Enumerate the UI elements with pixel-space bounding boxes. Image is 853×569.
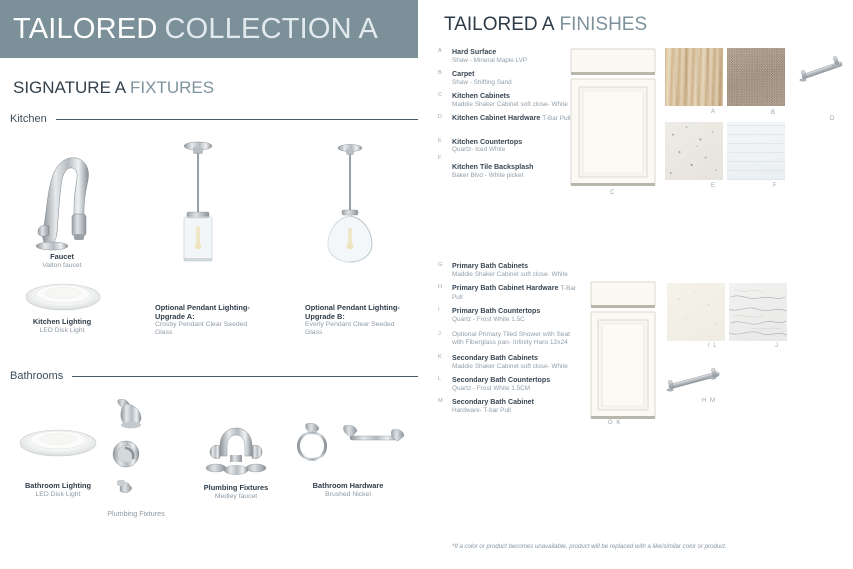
legend-item-i: I Primary Bath Countertops Quartz - Fros…: [438, 307, 578, 324]
kitchen-item-2-caption: Optional Pendant Lighting- Upgrade A: Cr…: [155, 304, 263, 338]
legend-desc-f: Baker Blvd - White picket: [452, 172, 578, 180]
signature-section-title: SIGNATURE AFIXTURES: [13, 78, 214, 98]
bath-item-0-desc: LED Disk Light: [8, 491, 108, 499]
spec-sheet-page: TAILOREDCOLLECTION A SIGNATURE AFIXTURES…: [0, 0, 853, 569]
kitchen-item-0-desc: Valton faucet: [10, 262, 114, 270]
legend-name-e: Kitchen Countertops: [452, 138, 578, 147]
swatch-label-e: E: [711, 183, 715, 189]
legend-item-e: E Kitchen Countertops Quartz- Iced White: [438, 138, 578, 155]
bath-item-1-name: Plumbing Fixtures: [90, 510, 182, 518]
legend-key-l: L: [438, 376, 441, 382]
legend-name-h-text: Primary Bath Cabinet Hardware: [452, 284, 558, 292]
swatch-gk-bath-cabinet-door: [590, 281, 656, 426]
kitchen-section-header: Kitchen: [10, 113, 418, 125]
legend-item-d: D Kitchen Cabinet Hardware T-Bar Pull: [438, 114, 578, 123]
finishes-title-light: FINISHES: [560, 14, 648, 35]
legend-name-m: Secondary Bath Cabinet: [452, 398, 578, 407]
finishes-title: TAILORED AFINISHES: [444, 14, 647, 36]
legend-desc-c: Maddie Shaker Cabinet soft close- White: [452, 101, 578, 109]
kitchen-item-3-name: Optional Pendant Lighting- Upgrade B:: [305, 304, 413, 321]
swatch-c-kitchen-cabinet-door: [570, 48, 656, 193]
legend-key-e: E: [438, 138, 442, 144]
legend-item-m: M Secondary Bath Cabinet Hardware- T-bar…: [438, 398, 578, 415]
legend-name-d-text: Kitchen Cabinet Hardware: [452, 114, 540, 122]
bathrooms-label: Bathrooms: [10, 370, 63, 382]
finishes-title-bold: TAILORED A: [444, 14, 555, 35]
bath-item-0-caption: Bathroom Lighting LED Disk Light: [8, 482, 108, 499]
bell-pendant-image: [320, 140, 380, 273]
legend-name-a: Hard Surface: [452, 48, 578, 57]
banner-title-bold: TAILORED: [13, 13, 157, 45]
bath-item-1-caption: Plumbing Fixtures: [90, 510, 182, 518]
swatch-d-tbar-pull: [795, 52, 847, 97]
swatch-label-gk: G K: [608, 420, 621, 426]
legend-item-l: L Secondary Bath Countertops Quartz - Fr…: [438, 376, 578, 393]
legend-desc-l: Quartz - Frost White 1.5CM: [452, 385, 578, 393]
faucet-image: [28, 140, 104, 257]
kitchen-item-3-desc: Everly Pendant Clear Seeded Glass: [305, 321, 413, 337]
swatch-label-j: J: [775, 343, 778, 349]
legend-desc-k: Maddie Shaker Cabinet soft close- White: [452, 363, 578, 371]
swatch-label-a: A: [711, 109, 715, 115]
disk-light-image-kitchen: [24, 278, 102, 317]
signature-title-bold: SIGNATURE A: [13, 78, 126, 97]
cylinder-pendant-image: [170, 138, 226, 271]
disk-light-image-bath: [18, 424, 98, 463]
swatch-label-b: B: [771, 110, 775, 116]
legend-key-b: B: [438, 70, 442, 76]
legend-item-f: F Kitchen Tile Backsplash Baker Blvd - W…: [438, 163, 578, 180]
collection-banner: TAILOREDCOLLECTION A: [0, 0, 418, 58]
legend-name-j: Optional Primary Tiled Shower with Seat …: [452, 331, 578, 347]
legend-name-d: Kitchen Cabinet Hardware T-Bar Pull: [452, 114, 578, 123]
legend-key-k: K: [438, 354, 442, 360]
legend-key-f: F: [438, 155, 442, 161]
legend-group-1: A Hard Surface Shaw - Mineral Maple LVP …: [438, 48, 578, 185]
kitchen-item-1-desc: LED Disk Light: [8, 327, 116, 335]
disclaimer-note: *If a color or product becomes unavailab…: [452, 543, 727, 550]
legend-desc-d: T-Bar Pull: [542, 115, 570, 122]
kitchen-item-2-desc: Crosby Pendant Clear Seeded Glass: [155, 321, 263, 337]
legend-item-c: C Kitchen Cabinets Maddie Shaker Cabinet…: [438, 92, 578, 109]
legend-key-i: I: [438, 307, 440, 313]
signature-title-light: FIXTURES: [130, 78, 214, 97]
legend-item-j: J Optional Primary Tiled Shower with Sea…: [438, 331, 578, 347]
legend-name-c: Kitchen Cabinets: [452, 92, 578, 101]
bath-item-3-caption: Bathroom Hardware Brushed Nickel: [296, 482, 400, 499]
bath-item-2-name: Plumbing Fixtures: [186, 484, 286, 493]
swatch-a-hard-surface: [665, 48, 723, 106]
legend-desc-g: Maddie Shaker Cabinet soft close- White: [452, 271, 578, 279]
kitchen-item-3-caption: Optional Pendant Lighting- Upgrade B: Ev…: [305, 304, 413, 338]
kitchen-item-1-name: Kitchen Lighting: [8, 318, 116, 327]
swatch-e-kitchen-countertop: [665, 122, 723, 180]
bathrooms-section-header: Bathrooms: [10, 370, 418, 382]
legend-key-m: M: [438, 398, 443, 404]
legend-name-l: Secondary Bath Countertops: [452, 376, 578, 385]
kitchen-label: Kitchen: [10, 113, 47, 125]
towel-bar-image: [292, 420, 410, 469]
legend-name-g: Primary Bath Cabinets: [452, 262, 578, 271]
bath-item-0-name: Bathroom Lighting: [8, 482, 108, 491]
kitchen-item-0-name: Faucet: [10, 253, 114, 262]
legend-key-h: H: [438, 284, 442, 290]
swatch-hm-tbar-pull: [662, 360, 726, 409]
legend-key-c: C: [438, 92, 442, 98]
legend-group-2: G Primary Bath Cabinets Maddie Shaker Ca…: [438, 262, 578, 420]
kitchen-item-0-caption: Faucet Valton faucet: [10, 253, 114, 270]
legend-desc-i: Quartz - Frost White 1.5C: [452, 316, 578, 324]
bathrooms-rule: [72, 376, 418, 377]
legend-item-k: K Secondary Bath Cabinets Maddie Shaker …: [438, 354, 578, 371]
lav-faucet-image: [196, 422, 276, 485]
legend-name-b: Carpet: [452, 70, 578, 79]
legend-key-g: G: [438, 262, 443, 268]
bath-item-2-caption: Plumbing Fixtures Medley faucet: [186, 484, 286, 501]
kitchen-rule: [56, 119, 418, 120]
swatch-label-hm: H M: [702, 398, 716, 404]
legend-key-d: D: [438, 114, 442, 120]
legend-item-g: G Primary Bath Cabinets Maddie Shaker Ca…: [438, 262, 578, 279]
legend-item-b: B Carpet Shaw - Shifting Sand: [438, 70, 578, 87]
swatch-j-shower-tile: [729, 283, 787, 341]
bath-item-3-name: Bathroom Hardware: [296, 482, 400, 491]
legend-name-h: Primary Bath Cabinet Hardware T-Bar Pull: [452, 284, 578, 302]
legend-item-h: H Primary Bath Cabinet Hardware T-Bar Pu…: [438, 284, 578, 302]
swatch-label-d: D: [830, 116, 834, 122]
legend-desc-m: Hardware- T-bar Pull: [452, 407, 578, 415]
banner-title: TAILOREDCOLLECTION A: [0, 13, 378, 46]
kitchen-item-1-caption: Kitchen Lighting LED Disk Light: [8, 318, 116, 335]
banner-title-light: COLLECTION A: [164, 13, 378, 45]
swatch-label-f: F: [773, 183, 777, 189]
left-column: TAILOREDCOLLECTION A SIGNATURE AFIXTURES…: [0, 0, 430, 569]
right-column: TAILORED AFINISHES A Hard Surface Shaw -…: [430, 0, 853, 569]
legend-desc-a: Shaw - Mineral Maple LVP: [452, 57, 578, 65]
swatch-f-backsplash-tile: [727, 122, 785, 180]
legend-key-a: A: [438, 48, 442, 54]
swatch-label-il: I L: [708, 343, 718, 349]
bath-item-2-desc: Medley faucet: [186, 493, 286, 501]
legend-key-j: J: [438, 331, 441, 337]
swatch-il-bath-countertop: [667, 283, 725, 341]
legend-desc-e: Quartz- Iced White: [452, 146, 578, 154]
legend-item-a: A Hard Surface Shaw - Mineral Maple LVP: [438, 48, 578, 65]
bath-item-3-desc: Brushed Nickel: [296, 491, 400, 499]
swatch-b-carpet: [727, 48, 785, 106]
shower-trim-image: [100, 392, 162, 507]
legend-name-i: Primary Bath Countertops: [452, 307, 578, 316]
legend-name-f: Kitchen Tile Backsplash: [452, 163, 578, 172]
swatch-label-c: C: [610, 190, 614, 196]
legend-name-k: Secondary Bath Cabinets: [452, 354, 578, 363]
legend-desc-b: Shaw - Shifting Sand: [452, 79, 578, 87]
kitchen-item-2-name: Optional Pendant Lighting- Upgrade A:: [155, 304, 263, 321]
